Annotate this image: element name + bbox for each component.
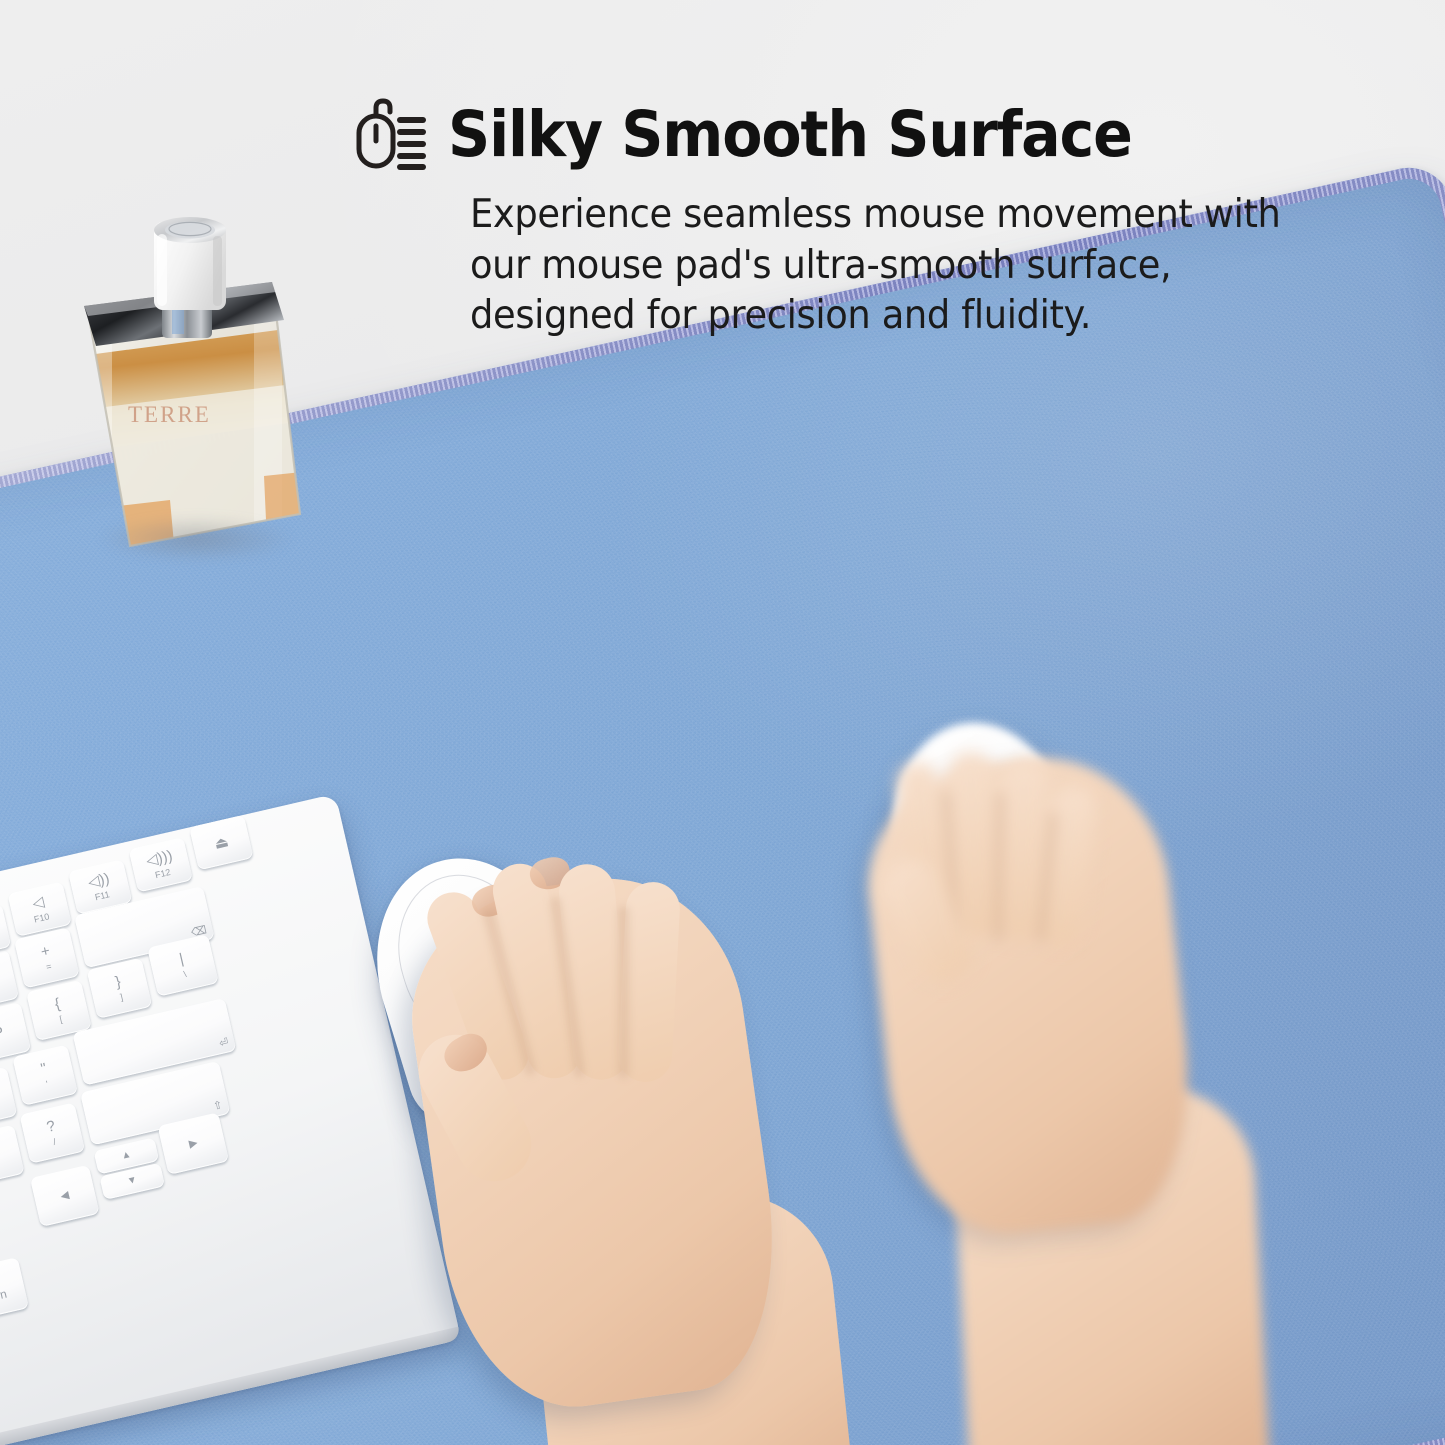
key-f10-label: F10 bbox=[33, 912, 50, 924]
key-option-label: option bbox=[0, 1287, 8, 1306]
key-equals-label: = bbox=[45, 962, 52, 972]
perfume-label-text: TERRE bbox=[128, 402, 211, 427]
page-subtitle: Experience seamless mouse movement with … bbox=[470, 190, 1396, 342]
key-quote-label: ' bbox=[45, 1080, 49, 1089]
key-slash-glyph: ? bbox=[45, 1118, 57, 1134]
mouse-with-motion-lines-icon bbox=[354, 96, 426, 172]
key-bracket-left-glyph: { bbox=[53, 996, 61, 1012]
subtitle-line-2: our mouse pad's ultra-smooth surface, bbox=[470, 241, 1396, 292]
key-backslash-glyph: | bbox=[178, 951, 185, 966]
key-f12-label: F12 bbox=[154, 868, 171, 880]
key-f11-label: F11 bbox=[94, 890, 110, 902]
key-arrow-left-glyph: ◀ bbox=[59, 1190, 70, 1203]
key-equals-glyph: + bbox=[39, 943, 51, 960]
key-bracket-right-label: ] bbox=[119, 993, 123, 1002]
key-quote-glyph: " bbox=[39, 1061, 48, 1077]
key-return-glyph: ⏎ bbox=[218, 1037, 229, 1050]
key-f10-glyph: ◁ bbox=[31, 894, 46, 911]
header-block: Silky Smooth Surface Experience seamless… bbox=[354, 96, 1364, 342]
perfume-bottle: TERRE bbox=[58, 214, 326, 576]
subtitle-line-1: Experience seamless mouse movement with bbox=[470, 190, 1396, 241]
key-f11-glyph: ◁)) bbox=[87, 871, 111, 890]
key-eject-glyph: ⏏ bbox=[213, 834, 230, 852]
finger-gap-shadow-3 bbox=[618, 906, 629, 1078]
key-shift-right-glyph: ⇧ bbox=[212, 1100, 223, 1113]
key-arrow-up-glyph: ▲ bbox=[120, 1150, 132, 1162]
perfume-bottle-shadow bbox=[60, 506, 332, 572]
key-f12-glyph: ◁))) bbox=[145, 848, 174, 869]
key-bracket-right-glyph: } bbox=[114, 974, 122, 990]
key-bracket-left-label: [ bbox=[59, 1015, 63, 1024]
key-p-glyph: P bbox=[0, 1024, 5, 1041]
key-slash-label: / bbox=[52, 1138, 56, 1147]
subtitle-line-3: designed for precision and fluidity. bbox=[470, 291, 1396, 342]
product-image-canvas: TERRE ◁ F10 ◁)) F11 bbox=[0, 0, 1445, 1445]
page-title: Silky Smooth Surface bbox=[448, 103, 1132, 166]
key-arrow-down-glyph: ▼ bbox=[126, 1175, 138, 1187]
key-arrow-right-glyph: ▶ bbox=[188, 1137, 199, 1150]
key-backslash-label: \ bbox=[183, 970, 187, 979]
title-row: Silky Smooth Surface bbox=[354, 96, 1364, 172]
